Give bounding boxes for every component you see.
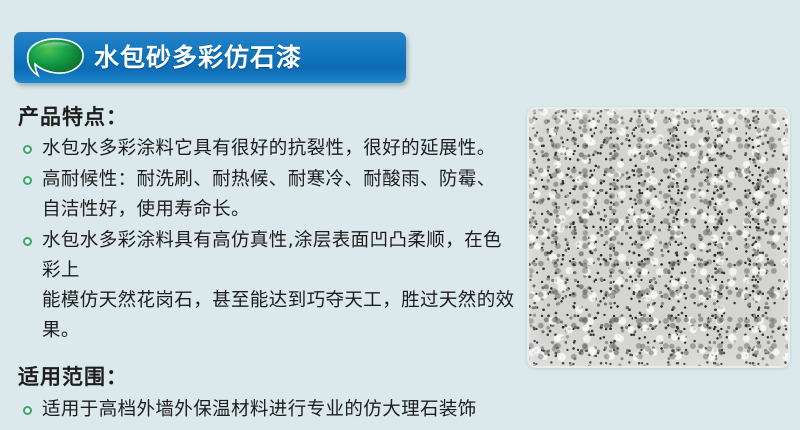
list-item-line: 适用于高档外墙外保温材料进行专业的仿大理石装饰 bbox=[42, 395, 518, 425]
list-item-text: 水包水多彩涂料它具有很好的抗裂性，很好的延展性。 bbox=[42, 134, 518, 164]
list-item-line: 自洁性好，使用寿命长。 bbox=[42, 195, 518, 225]
list-item-text: 适用于高档外墙外保温材料进行专业的仿大理石装饰 bbox=[42, 395, 518, 425]
list-item: 水包水多彩涂料它具有很好的抗裂性，很好的延展性。 bbox=[18, 134, 518, 164]
feature-list: 水包水多彩涂料它具有很好的抗裂性，很好的延展性。 高耐候性：耐洗刷、耐热候、耐寒… bbox=[18, 134, 518, 346]
bullet-dot-icon bbox=[23, 237, 32, 246]
list-item: 高耐候性：耐洗刷、耐热候、耐寒冷、耐酸雨、防霉、 自洁性好，使用寿命长。 bbox=[18, 165, 518, 225]
header-banner: 水包砂多彩仿石漆 bbox=[14, 32, 406, 83]
list-item-line: 高耐候性：耐洗刷、耐热候、耐寒冷、耐酸雨、防霉、 bbox=[42, 165, 518, 195]
section-heading: 适用范围： bbox=[18, 364, 518, 390]
leaf-icon bbox=[24, 37, 86, 79]
bullet-dot-icon bbox=[23, 176, 32, 185]
section-heading: 产品特点： bbox=[18, 104, 518, 130]
list-item: 水包水多彩涂料具有高仿真性,涂层表面凹凸柔顺，在色彩上 能模仿天然花岗石，甚至能… bbox=[18, 226, 518, 346]
bullet-dot-icon bbox=[23, 145, 32, 154]
list-item-line: 水包水多彩涂料它具有很好的抗裂性，很好的延展性。 bbox=[42, 134, 518, 164]
section-product-features: 产品特点： 水包水多彩涂料它具有很好的抗裂性，很好的延展性。 高耐候性：耐洗刷、… bbox=[18, 104, 518, 346]
content-area: 产品特点： 水包水多彩涂料它具有很好的抗裂性，很好的延展性。 高耐候性：耐洗刷、… bbox=[18, 104, 518, 426]
application-list: 适用于高档外墙外保温材料进行专业的仿大理石装饰 bbox=[18, 395, 518, 425]
list-item-line: 能模仿天然花岗石，甚至能达到巧夺天工，胜过天然的效果。 bbox=[42, 286, 518, 346]
list-item-line: 水包水多彩涂料具有高仿真性,涂层表面凹凸柔顺，在色彩上 bbox=[42, 226, 518, 286]
banner-title: 水包砂多彩仿石漆 bbox=[94, 45, 302, 70]
list-item-text: 水包水多彩涂料具有高仿真性,涂层表面凹凸柔顺，在色彩上 能模仿天然花岗石，甚至能… bbox=[42, 226, 518, 346]
section-spacer bbox=[18, 347, 518, 364]
granite-midtone-layer bbox=[527, 107, 790, 368]
list-item-text: 高耐候性：耐洗刷、耐热候、耐寒冷、耐酸雨、防霉、 自洁性好，使用寿命长。 bbox=[42, 165, 518, 225]
list-item: 适用于高档外墙外保温材料进行专业的仿大理石装饰 bbox=[18, 395, 518, 425]
product-image bbox=[527, 107, 790, 368]
bullet-dot-icon bbox=[23, 406, 32, 415]
section-application-scope: 适用范围： 适用于高档外墙外保温材料进行专业的仿大理石装饰 bbox=[18, 364, 518, 424]
